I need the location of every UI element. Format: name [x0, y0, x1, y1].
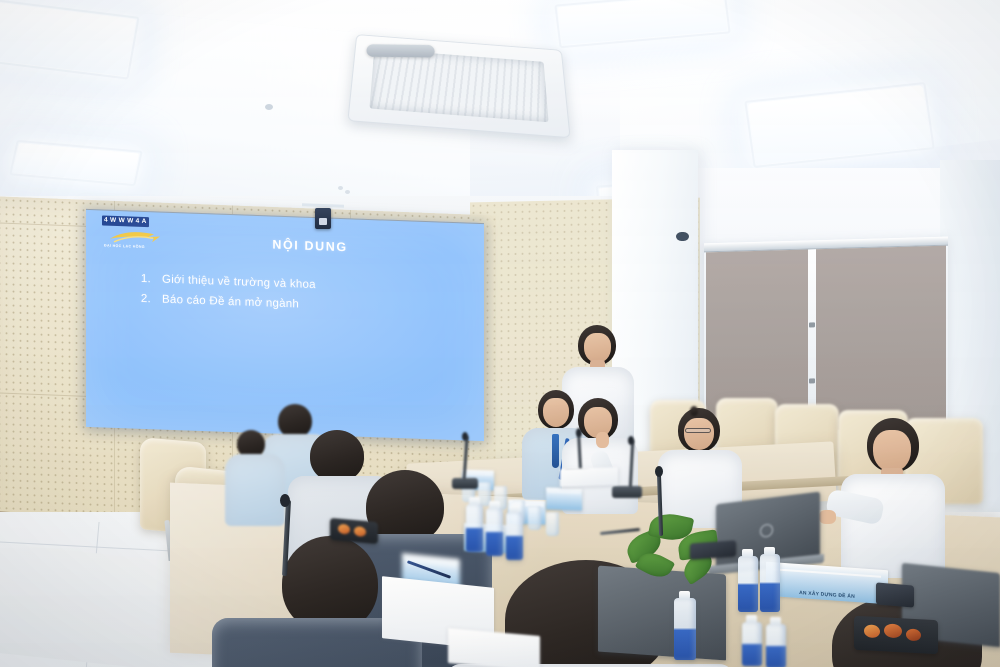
- ceiling-ac-cassette-icon: [347, 34, 570, 138]
- fruit-tray: [854, 616, 938, 654]
- projector-lens-icon: [319, 218, 327, 225]
- placard-strip: [464, 473, 492, 475]
- face: [684, 418, 714, 450]
- drinking-glass: [546, 512, 559, 536]
- head: [278, 404, 312, 438]
- water-bottle: [466, 504, 483, 552]
- document-papers: [560, 467, 618, 487]
- head: [310, 430, 364, 482]
- necktie: [552, 434, 559, 468]
- bottle-cap: [764, 547, 775, 555]
- agenda-text: Báo cáo Đề án mở ngành: [162, 290, 299, 315]
- placard-strip: [548, 491, 580, 494]
- notebook: [448, 628, 540, 667]
- water-bottle: [760, 554, 780, 612]
- control-panel[interactable]: [690, 540, 736, 559]
- ac-vane: [366, 44, 435, 57]
- microphone-head: [462, 432, 468, 441]
- agenda-number: 1.: [138, 269, 151, 289]
- microphone-head: [280, 494, 290, 507]
- torso-shirt: [225, 454, 285, 526]
- logo-letter: 4: [104, 217, 108, 225]
- fruit: [906, 629, 921, 642]
- bottle-cap: [679, 591, 690, 599]
- slide-agenda-list: 1. Giới thiệu về trường và khoa 2. Báo c…: [138, 269, 462, 321]
- bottle-cap: [489, 501, 500, 509]
- bottle-cap: [509, 505, 520, 513]
- hand: [819, 510, 836, 524]
- logo-letter: 4: [136, 218, 140, 226]
- ac-grille: [369, 49, 548, 122]
- fruit: [354, 526, 366, 537]
- ceiling-sensor-dot: [338, 186, 343, 190]
- eyeglasses-icon: [685, 428, 711, 433]
- water-bottle: [486, 508, 503, 556]
- blind-clip: [809, 378, 815, 383]
- bottle-cap: [746, 615, 757, 623]
- name-placard: [546, 487, 582, 510]
- fruit: [338, 524, 350, 535]
- agenda-number: 2.: [138, 289, 151, 309]
- ceiling-sensor-dot: [265, 104, 273, 110]
- hand: [596, 432, 609, 448]
- microphone-head: [628, 436, 634, 445]
- logo-letter: W: [127, 217, 134, 225]
- torso-shirt: [841, 474, 945, 578]
- wall-camera-icon: [676, 232, 689, 241]
- water-bottle: [766, 624, 786, 667]
- logo-letter: W: [119, 217, 126, 225]
- led-panel-light: [748, 85, 932, 164]
- logo-letter-bar: 4 W W W 4 A: [102, 215, 149, 227]
- ceiling-sensor-dot: [345, 190, 350, 194]
- face: [543, 398, 569, 427]
- placard-strip: [773, 568, 880, 577]
- fruit: [884, 623, 902, 638]
- water-bottle: [674, 598, 696, 660]
- fruit: [864, 624, 880, 638]
- university-logo: 4 W W W 4 A ĐẠI HỌC LẠC HỒNG: [102, 215, 180, 228]
- microphone-base: [612, 486, 642, 498]
- microphone-head: [576, 428, 582, 437]
- water-bottle: [738, 556, 758, 612]
- drinking-glass: [528, 506, 541, 530]
- slide-title: NỘI DUNG: [86, 231, 484, 259]
- fruit-tray: [330, 518, 378, 544]
- face: [584, 333, 611, 363]
- meeting-room-photo: 4 W W W 4 A ĐẠI HỌC LẠC HỒNG NỘI DUNG 1.…: [0, 0, 1000, 667]
- bottle-cap: [770, 617, 781, 625]
- roller-blind-right[interactable]: [816, 246, 946, 431]
- microphone-head: [655, 466, 663, 477]
- bottle-cap: [742, 549, 753, 557]
- mobile-phone[interactable]: [876, 582, 914, 607]
- face: [873, 430, 911, 472]
- water-bottle: [506, 512, 523, 560]
- blind-clip: [809, 322, 815, 327]
- water-bottle: [742, 622, 762, 666]
- projector-icon: [315, 208, 331, 229]
- laptop-brand-logo-icon: [760, 523, 773, 538]
- logo-letter: W: [110, 217, 117, 225]
- bottle-cap: [469, 497, 480, 505]
- led-panel-light: [13, 143, 139, 183]
- head: [690, 406, 698, 416]
- logo-letter: A: [142, 218, 147, 226]
